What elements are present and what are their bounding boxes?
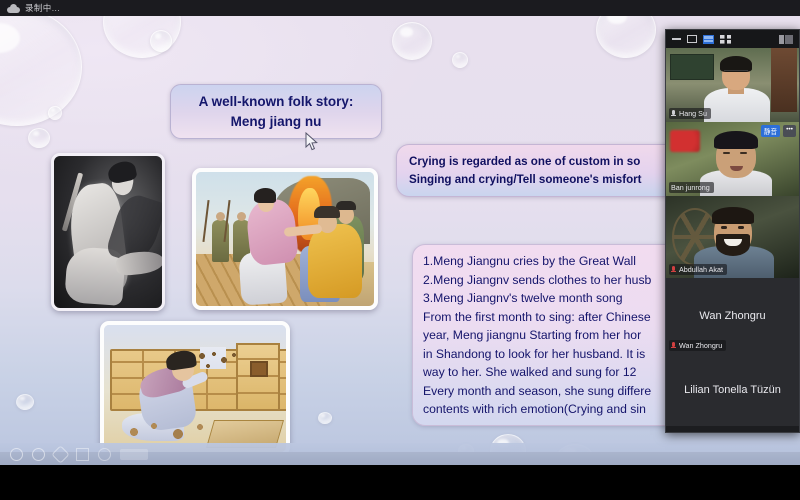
slide-title-line-1: A well-known folk story: (199, 92, 354, 112)
image-painting-woman-and-emperor (192, 168, 378, 310)
video-panel-filler (666, 426, 799, 432)
zoom-video-panel: Hang Su 静音 ••• Ban junrong Abdullah (665, 29, 800, 433)
banner-line-1: Crying is regarded as one of custom in s… (409, 153, 687, 171)
slide-body-box: 1.Meng Jiangnu cries by the Great Wall 2… (412, 244, 694, 426)
body-line: way to her. She walked and sung for 12 (423, 363, 693, 382)
participant-nametag: Ban junrong (669, 182, 714, 193)
bubble-decoration (16, 394, 34, 410)
microphone-muted-icon (671, 342, 676, 350)
slide-grid-icon[interactable] (76, 448, 89, 461)
cloud-icon (7, 4, 20, 13)
body-line: From the first month to sing: after Chin… (423, 308, 693, 327)
speaker-view-icon[interactable] (703, 35, 714, 44)
participant-display-name: Lilian Tonella Tüzün (680, 384, 785, 396)
recording-label: 录制中... (25, 2, 60, 14)
participant-tile-wan-zhongru[interactable]: Wan Zhongru Wan Zhongru (666, 278, 799, 354)
gallery-view-icon[interactable] (720, 35, 731, 44)
participant-tile-hang-su[interactable]: Hang Su (666, 48, 799, 122)
pen-icon[interactable] (51, 445, 69, 463)
body-line: in Shandong to look for her husband. It … (423, 345, 693, 364)
more-options-badge[interactable]: ••• (783, 125, 796, 137)
zoom-icon[interactable] (98, 448, 111, 461)
bubble-decoration (48, 106, 62, 120)
participant-nametag: Wan Zhongru (669, 340, 726, 351)
mouse-pointer-icon (305, 132, 318, 151)
participant-tile-abdullah-akat[interactable]: Abdullah Akat (666, 196, 799, 278)
letterbox-bottom (0, 465, 800, 500)
body-line: 3.Meng Jiangnv's twelve month song (423, 289, 693, 308)
recording-bar: 录制中... (0, 0, 800, 16)
participant-name: Hang Su (679, 109, 707, 118)
image-ink-painting-woman (51, 153, 165, 311)
video-panel-toolbar (666, 30, 799, 48)
more-options-icon[interactable] (120, 449, 148, 460)
participant-name: Wan Zhongru (679, 341, 722, 350)
slide-banner-box: Crying is regarded as one of custom in s… (396, 144, 688, 197)
slide-title-box: A well-known folk story: Meng jiang nu (170, 84, 382, 139)
tile-badges: 静音 ••• (761, 125, 796, 137)
body-line: contents with rich emotion(Crying and si… (423, 400, 693, 419)
body-line: 2.Meng Jiangnv sends clothes to her husb (423, 271, 693, 290)
participant-display-name: Wan Zhongru (695, 310, 769, 322)
previous-slide-icon[interactable] (10, 448, 23, 461)
presenter-toolbar (0, 443, 800, 465)
microphone-muted-icon (671, 266, 676, 274)
bubble-decoration (150, 30, 172, 52)
participant-tile-lilian-tonella-tuzun[interactable]: Lilian Tonella Tüzün (666, 354, 799, 426)
bubble-decoration (318, 412, 332, 424)
participant-tile-ban-junrong[interactable]: 静音 ••• Ban junrong (666, 122, 799, 196)
screen: 录制中... (0, 0, 800, 500)
participant-name: Abdullah Akat (679, 265, 723, 274)
maximize-icon[interactable] (687, 35, 697, 43)
layout-icon[interactable] (779, 35, 793, 44)
participant-nametag: Abdullah Akat (669, 264, 727, 275)
body-line: Every month and season, she sung differe (423, 382, 693, 401)
next-slide-icon[interactable] (32, 448, 45, 461)
bubble-decoration (596, 16, 656, 58)
participant-name: Ban junrong (671, 183, 710, 192)
minimize-icon[interactable] (672, 38, 681, 40)
bubble-decoration (452, 52, 468, 68)
body-line: 1.Meng Jiangnu cries by the Great Wall (423, 252, 693, 271)
bubble-decoration (392, 22, 432, 60)
image-cartoon-woman-crying-at-wall (100, 321, 290, 452)
slide-title-line-2: Meng jiang nu (231, 112, 322, 132)
mute-badge[interactable]: 静音 (761, 125, 780, 137)
banner-line-2: Singing and crying/Tell someone's misfor… (409, 171, 687, 189)
participant-nametag: Hang Su (669, 108, 711, 119)
body-line: year, Meng jiangnu Starting from her hor (423, 326, 693, 345)
bubble-decoration (28, 128, 50, 148)
microphone-icon (671, 110, 676, 118)
bubble-decoration (0, 16, 82, 126)
